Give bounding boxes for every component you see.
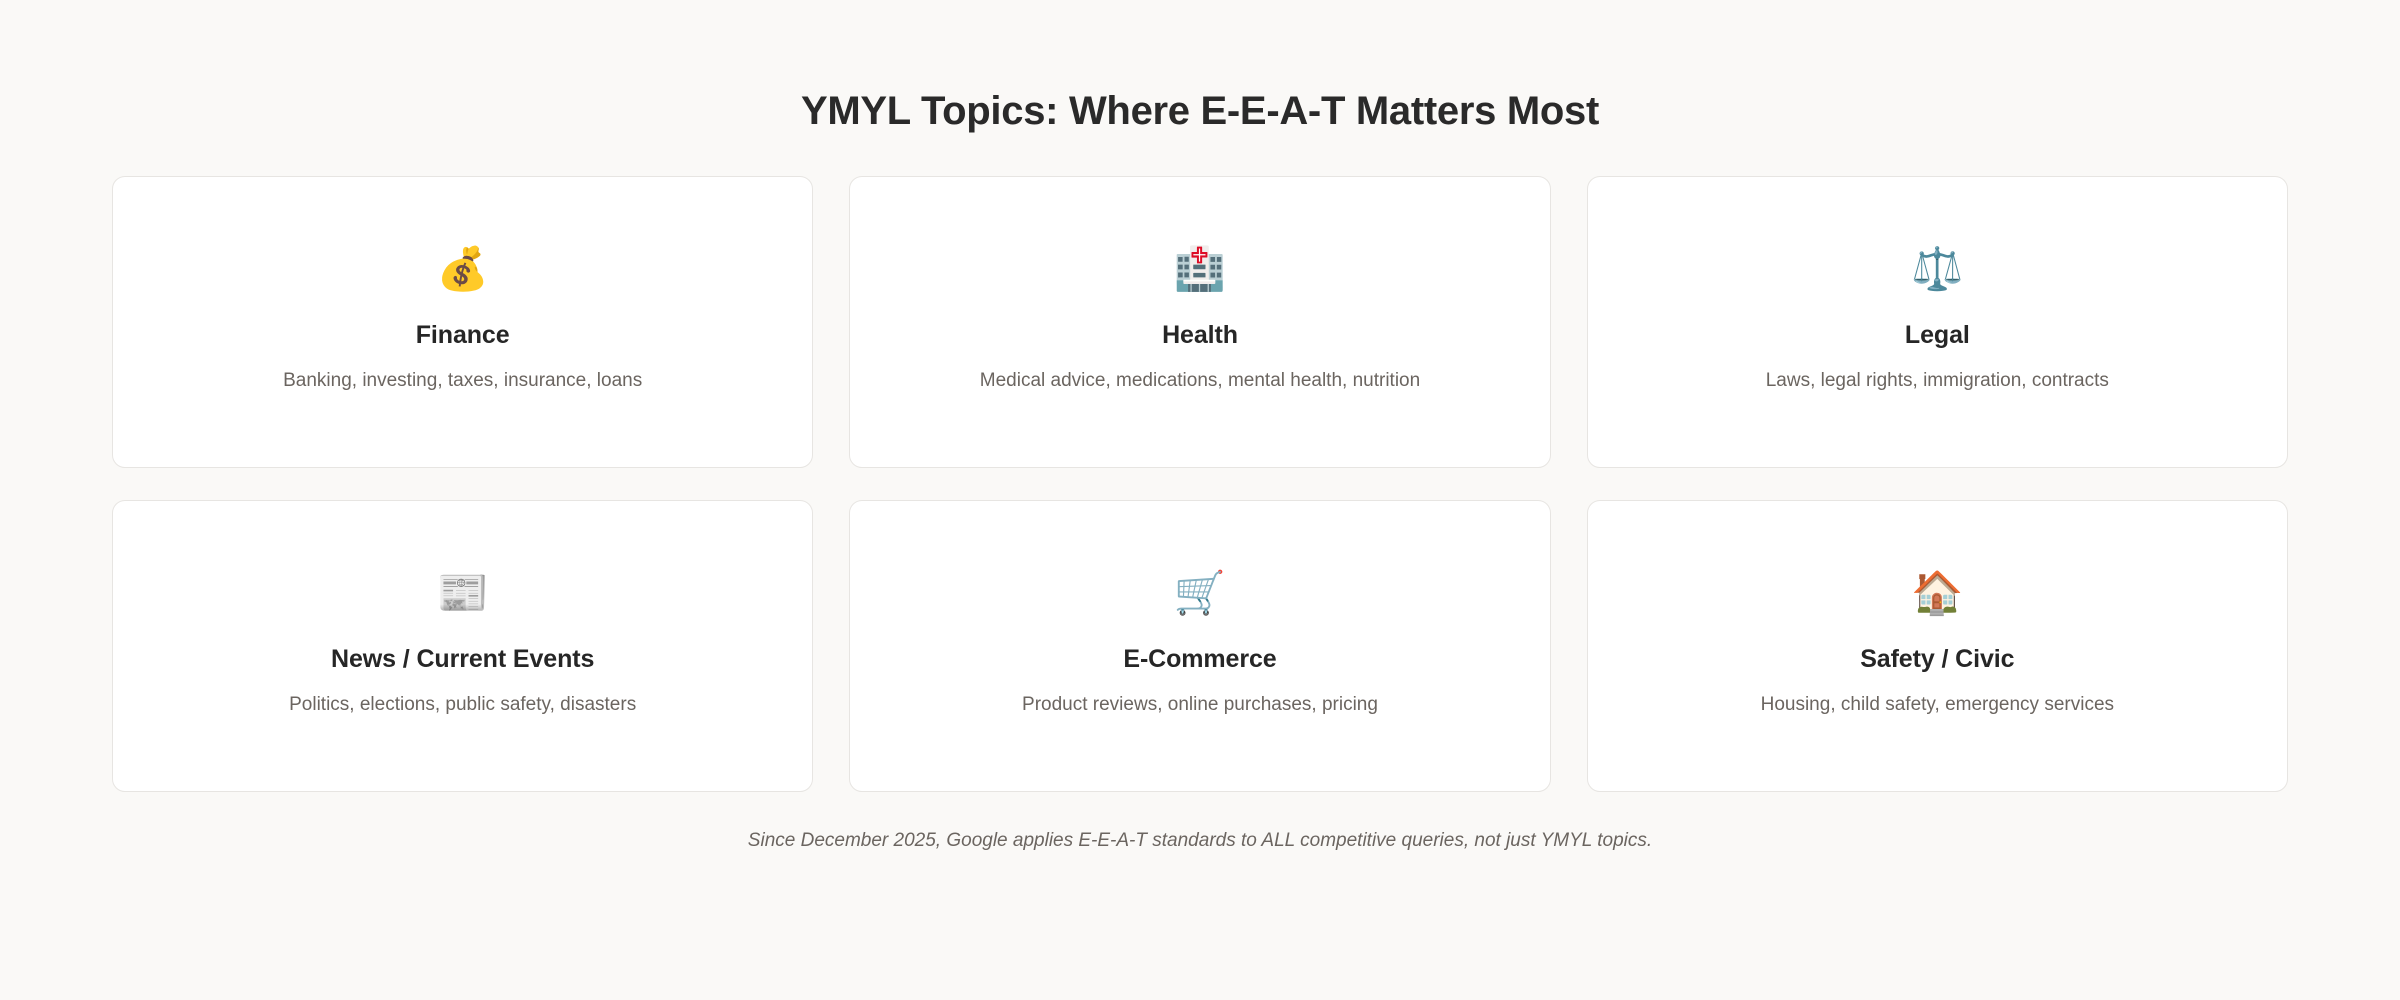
topic-card-legal[interactable]: ⚖️ Legal Laws, legal rights, immigration… [1587, 176, 2288, 468]
topic-card-description: Laws, legal rights, immigration, contrac… [1766, 367, 2109, 395]
balance-scale-icon: ⚖️ [1911, 244, 1963, 294]
topic-card-heading: Safety / Civic [1860, 644, 2014, 674]
newspaper-icon: 📰 [437, 568, 489, 618]
ymyl-topic-card-grid: 💰 Finance Banking, investing, taxes, ins… [112, 176, 2288, 792]
topic-card-heading: Legal [1905, 320, 1970, 350]
hospital-icon: 🏥 [1174, 244, 1226, 294]
topic-card-e-commerce[interactable]: 🛒 E-Commerce Product reviews, online pur… [849, 500, 1550, 792]
topic-card-description: Politics, elections, public safety, disa… [289, 691, 636, 719]
topic-card-heading: Health [1162, 320, 1238, 350]
money-bag-icon: 💰 [437, 244, 489, 294]
topic-card-description: Product reviews, online purchases, prici… [1022, 691, 1378, 719]
topic-card-heading: Finance [416, 320, 510, 350]
topic-card-health[interactable]: 🏥 Health Medical advice, medications, me… [849, 176, 1550, 468]
page-container: YMYL Topics: Where E-E-A-T Matters Most … [0, 0, 2400, 1000]
topic-card-heading: News / Current Events [331, 644, 594, 674]
topic-card-description: Medical advice, medications, mental heal… [980, 367, 1420, 395]
footnote: Since December 2025, Google applies E-E-… [748, 830, 1652, 852]
topic-card-description: Housing, child safety, emergency service… [1761, 691, 2114, 719]
topic-card-safety-civic[interactable]: 🏠 Safety / Civic Housing, child safety, … [1587, 500, 2288, 792]
shopping-cart-icon: 🛒 [1174, 568, 1226, 618]
topic-card-finance[interactable]: 💰 Finance Banking, investing, taxes, ins… [112, 176, 813, 468]
topic-card-heading: E-Commerce [1123, 644, 1276, 674]
topic-card-news-current-events[interactable]: 📰 News / Current Events Politics, electi… [112, 500, 813, 792]
house-icon: 🏠 [1911, 568, 1963, 618]
page-title: YMYL Topics: Where E-E-A-T Matters Most [801, 88, 1599, 134]
topic-card-description: Banking, investing, taxes, insurance, lo… [283, 367, 642, 395]
